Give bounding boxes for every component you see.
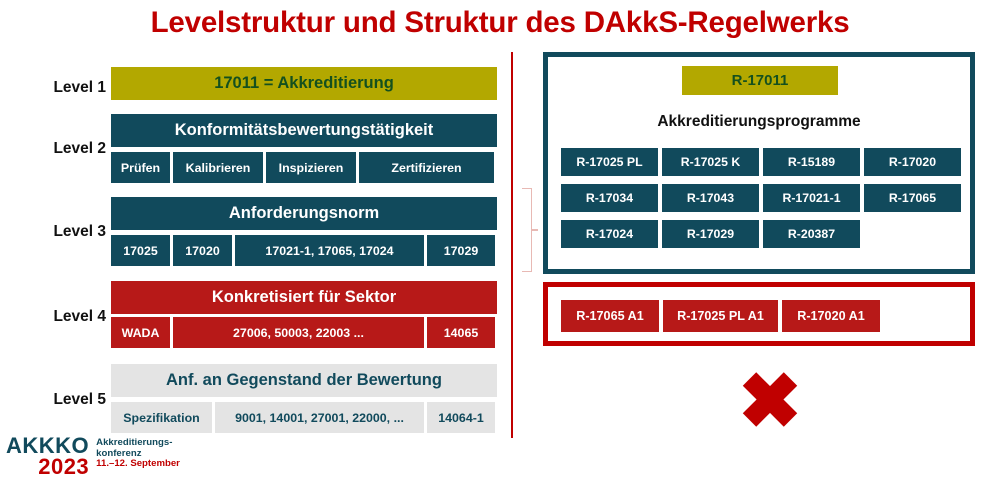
level-label-3: Level 3: [20, 223, 106, 241]
level-2-item: Zertifizieren: [359, 152, 494, 183]
level-5-item: Spezifikation: [111, 402, 212, 433]
programme-row: R-17034R-17043R-17021-1R-17065: [561, 184, 961, 212]
programme-cell: R-15189: [763, 148, 860, 176]
programme-cell: R-17043: [662, 184, 759, 212]
level-label-1: Level 1: [20, 79, 106, 97]
level-4-header-bar: Konkretisiert für Sektor: [111, 281, 497, 314]
level-3-item: 17020: [173, 235, 232, 266]
level-3-item: 17025: [111, 235, 170, 266]
logo-date: 11.–12. September: [96, 459, 180, 470]
level-4-item: WADA: [111, 317, 170, 348]
programme-cell: R-17025 PL: [561, 148, 658, 176]
logo-subtitle: Akkreditierungs- konferenz 11.–12. Septe…: [96, 438, 180, 470]
level-4-item-row: WADA27006, 50003, 22003 ...14065: [111, 317, 497, 348]
level-label-4: Level 4: [20, 308, 106, 326]
level-3-item: 17021-1, 17065, 17024: [235, 235, 424, 266]
programme-cell: R-17029: [662, 220, 759, 248]
level-3-header-bar: Anforderungsnorm: [111, 197, 497, 230]
programme-cell: R-17021-1: [763, 184, 860, 212]
level-3-item: 17029: [427, 235, 495, 266]
programme-cell: R-17020: [864, 148, 961, 176]
programme-cell: R-17025 K: [662, 148, 759, 176]
programme-panel-subtitle: Akkreditierungsprogramme: [543, 113, 975, 131]
level-4-item: 27006, 50003, 22003 ...: [173, 317, 424, 348]
annex-row: R-17065 A1R-17025 PL A1R-17020 A1: [561, 300, 880, 332]
level-1-header-bar: 17011 = Akkreditierung: [111, 67, 497, 100]
level-structure-diagram: Level 117011 = AkkreditierungLevel 2Konf…: [0, 0, 511, 476]
level-2-3-bracket-tick: [531, 229, 538, 231]
programme-cell: R-17024: [561, 220, 658, 248]
level-5-item: 9001, 14001, 27001, 22000, ...: [215, 402, 424, 433]
programme-cell: R-17034: [561, 184, 658, 212]
level-2-item: Kalibrieren: [173, 152, 263, 183]
vertical-divider: [511, 52, 513, 438]
akkko-logo: AKKKO 2023 Akkreditierungs- konferenz 11…: [6, 436, 180, 477]
level-5-item-row: Spezifikation9001, 14001, 27001, 22000, …: [111, 402, 497, 433]
level-5-header-bar: Anf. an Gegenstand der Bewertung: [111, 364, 497, 397]
cross-mark-icon: [741, 370, 799, 428]
level-2-item-row: PrüfenKalibrierenInspizierenZertifiziere…: [111, 152, 497, 183]
programme-row: R-17025 PLR-17025 KR-15189R-17020: [561, 148, 961, 176]
level-label-2: Level 2: [20, 140, 106, 158]
level-3-item-row: 170251702017021-1, 17065, 1702417029: [111, 235, 497, 266]
logo-year: 2023: [6, 457, 89, 478]
level-2-header-bar: Konformitätsbewertungstätigkeit: [111, 114, 497, 147]
level-label-5: Level 5: [20, 391, 106, 409]
programme-root-badge: R-17011: [682, 66, 838, 95]
annex-cell: R-17025 PL A1: [663, 300, 778, 332]
level-2-item: Prüfen: [111, 152, 170, 183]
level-2-item: Inspizieren: [266, 152, 356, 183]
annex-cell: R-17020 A1: [782, 300, 880, 332]
logo-marks: AKKKO 2023: [6, 436, 89, 477]
programme-cell-empty: [864, 220, 961, 248]
programme-cell: R-17065: [864, 184, 961, 212]
annex-cell: R-17065 A1: [561, 300, 659, 332]
programme-row: R-17024R-17029R-20387: [561, 220, 961, 248]
level-5-item: 14064-1: [427, 402, 495, 433]
level-4-item: 14065: [427, 317, 495, 348]
programme-cell: R-20387: [763, 220, 860, 248]
